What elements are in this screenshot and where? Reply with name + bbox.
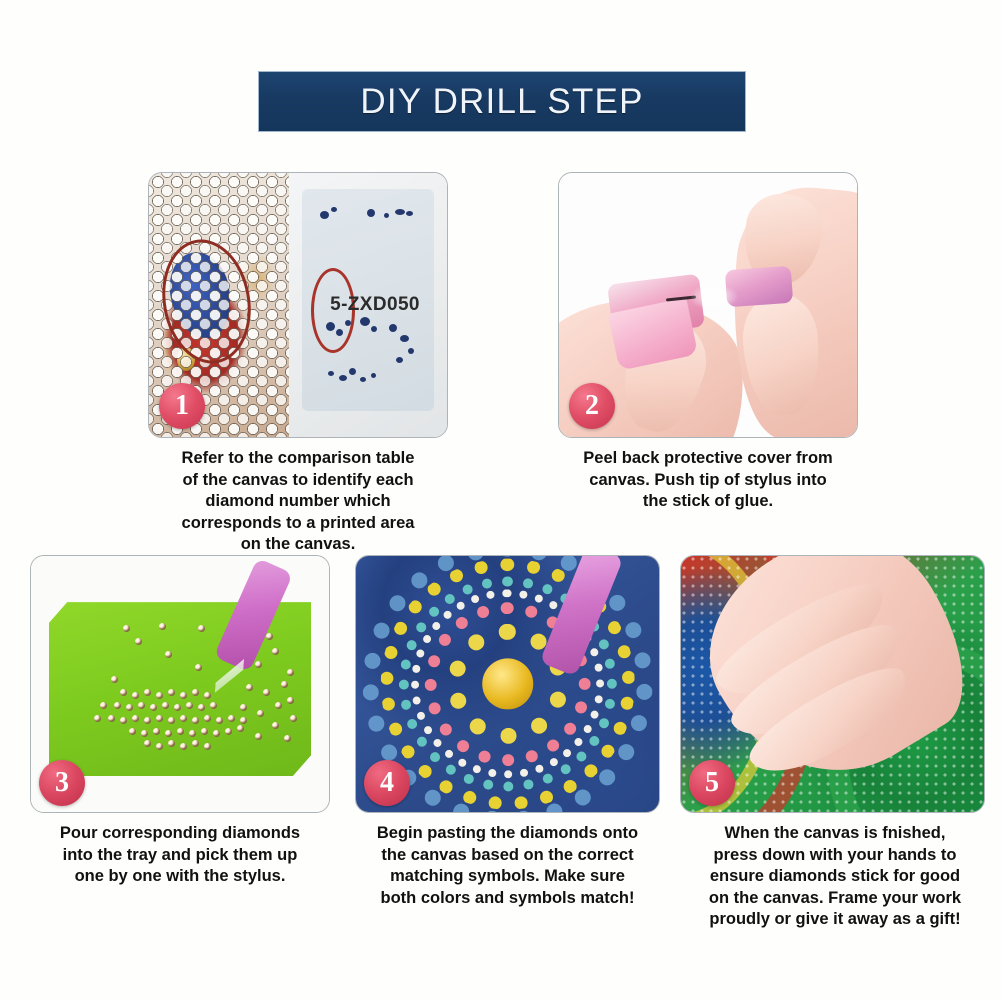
step-2-caption: Peel back protective cover from canvas. …: [553, 448, 863, 513]
diamond-bag-region: 5-ZXD050: [289, 173, 447, 437]
mandala-center-gem: [482, 658, 534, 709]
step-5-image-panel: 5: [680, 555, 985, 813]
step-3-image-panel: 3: [30, 555, 330, 813]
step-4-caption: Begin pasting the diamonds onto the canv…: [350, 823, 665, 909]
step-3-caption: Pour corresponding diamonds into the tra…: [25, 823, 335, 888]
step-1-caption: Refer to the comparison table of the can…: [148, 448, 448, 556]
step-5-badge: 5: [689, 760, 735, 806]
page-title: DIY DRILL STEP: [360, 82, 643, 122]
header-banner: DIY DRILL STEP: [258, 71, 746, 132]
step-3-badge-number: 3: [55, 767, 69, 799]
step-4-badge: 4: [364, 760, 410, 806]
step-1-badge-number: 1: [175, 390, 189, 422]
step-4-image-panel: 4: [355, 555, 660, 813]
step-5-badge-number: 5: [705, 767, 719, 799]
step-3-badge: 3: [39, 760, 85, 806]
glue-wisp: [690, 284, 738, 310]
step-2-image-panel: 2: [558, 172, 858, 438]
step-1-badge: 1: [159, 383, 205, 429]
bag-code-label: 5-ZXD050: [330, 294, 420, 316]
step-2-badge-number: 2: [585, 390, 599, 422]
step-5-caption: When the canvas is fnished, press down w…: [680, 823, 990, 931]
step-4-badge-number: 4: [380, 767, 394, 799]
step-1-image-panel: 5-ZXD050 1: [148, 172, 448, 438]
step-2-badge: 2: [569, 383, 615, 429]
